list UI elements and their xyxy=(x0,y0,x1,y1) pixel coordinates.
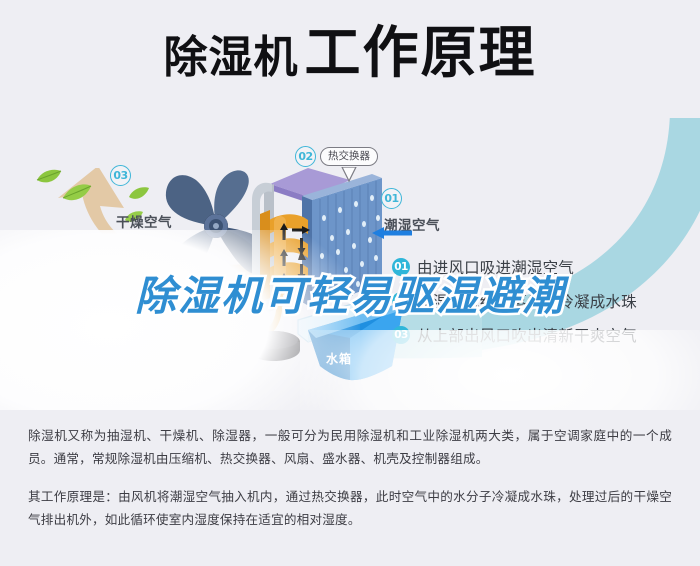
water-tank-label: 水箱 xyxy=(326,350,352,367)
step-text: 从上部出风口吹出清新干爽空气 xyxy=(417,324,637,346)
hero-illustration-panel: 除湿机工作原理 xyxy=(0,0,700,410)
intake-arrow-icon xyxy=(372,224,412,242)
page-title: 除湿机工作原理 xyxy=(0,26,700,82)
marker-number: 01 xyxy=(381,188,402,209)
title-part-large: 工作原理 xyxy=(305,21,537,86)
marker-number: 02 xyxy=(295,146,316,167)
leaf-icon xyxy=(62,182,92,204)
title-part-small: 除湿机 xyxy=(164,32,299,83)
step-badge: 03 xyxy=(392,326,410,344)
page-root: 除湿机工作原理 xyxy=(0,0,700,566)
step-item: 03 从上部出风口吹出清新干爽空气 xyxy=(392,318,692,352)
overlay-headline: 除湿机可轻易驱湿避潮 xyxy=(0,262,700,322)
dry-air-label: 干燥空气 xyxy=(116,211,172,231)
body-copy-panel: 除湿机又称为抽湿机、干燥机、除湿器，一般可分为民用除湿机和工业除湿机两大类，属于… xyxy=(0,410,700,566)
marker-heat-exchanger: 02 热交换器 xyxy=(295,146,378,167)
body-paragraph-1: 除湿机又称为抽湿机、干燥机、除湿器，一般可分为民用除湿机和工业除湿机两大类，属于… xyxy=(28,424,672,471)
marker-moist-air: 01 xyxy=(381,188,402,209)
heat-exchanger-callout: 热交换器 xyxy=(320,147,378,166)
leaf-icon xyxy=(128,186,150,202)
marker-number: 03 xyxy=(110,165,131,186)
leaf-icon xyxy=(36,168,62,186)
body-paragraph-2: 其工作原理是：由风机将潮湿空气抽入机内，通过热交换器，此时空气中的水分子冷凝成水… xyxy=(28,485,672,532)
marker-dry-air: 03 xyxy=(110,165,131,186)
callout-pointer-icon xyxy=(340,167,358,183)
